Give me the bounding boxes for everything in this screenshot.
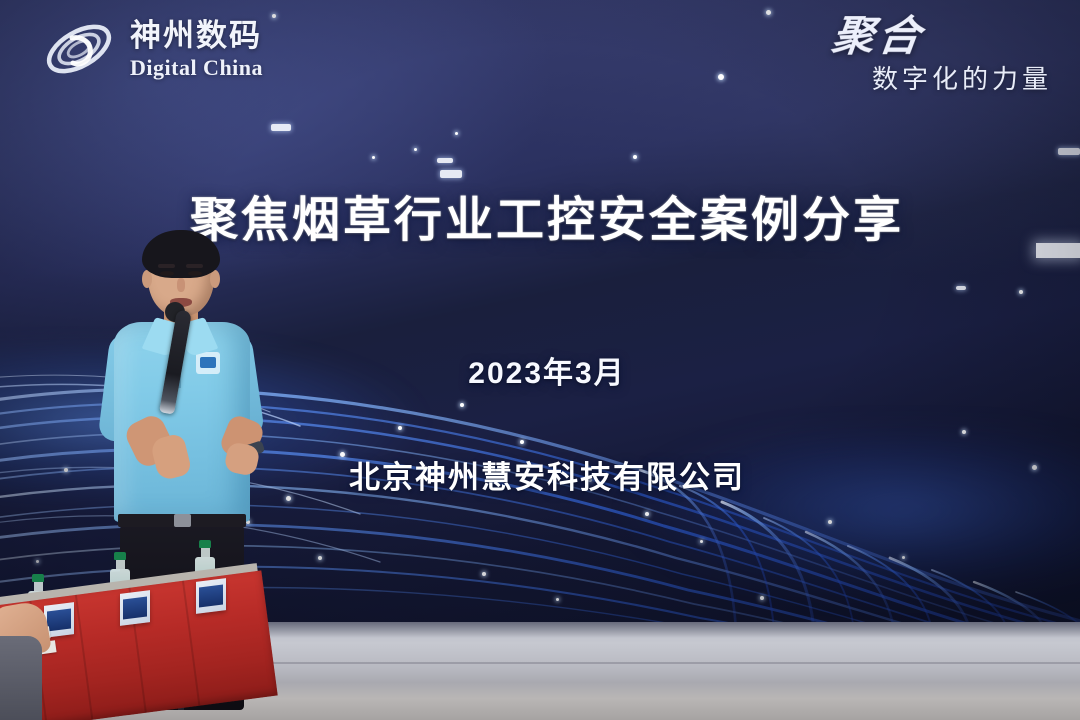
stage-photo: 神州数码 Digital China 聚合 数字化的力量 聚焦烟草行业工控安全案… (0, 0, 1080, 720)
attendee-body (0, 636, 42, 720)
bottle-cap (114, 552, 126, 560)
speaker-ear-right (210, 270, 220, 288)
speaker-nose (177, 278, 185, 292)
digital-china-logo: 神州数码 Digital China (42, 18, 263, 80)
speaker-eyebrow-left (158, 264, 175, 268)
name-card (196, 578, 226, 614)
bottle-neck (34, 582, 43, 591)
bottle-neck (201, 548, 210, 557)
speaker-hair (142, 230, 220, 278)
slogan-brush-text: 聚合 (829, 16, 926, 58)
speaker-eye-right (188, 271, 202, 276)
bottle-cap (32, 574, 44, 582)
bottle-neck (116, 560, 125, 569)
event-slogan: 聚合 数字化的力量 (832, 16, 1052, 92)
speaker-belt-buckle (174, 514, 191, 527)
slogan-subtitle: 数字化的力量 (832, 66, 1052, 92)
logo-name-cn: 神州数码 (130, 20, 263, 51)
speaker-chest-logo-icon (196, 352, 220, 374)
logo-wordmark: 神州数码 Digital China (130, 20, 263, 79)
digital-china-swirl-icon (42, 18, 116, 80)
name-card (120, 590, 150, 626)
speaker-eye-left (160, 271, 174, 276)
bottle-cap (199, 540, 211, 548)
speaker-eyebrow-right (186, 264, 203, 268)
logo-name-en: Digital China (130, 57, 263, 79)
